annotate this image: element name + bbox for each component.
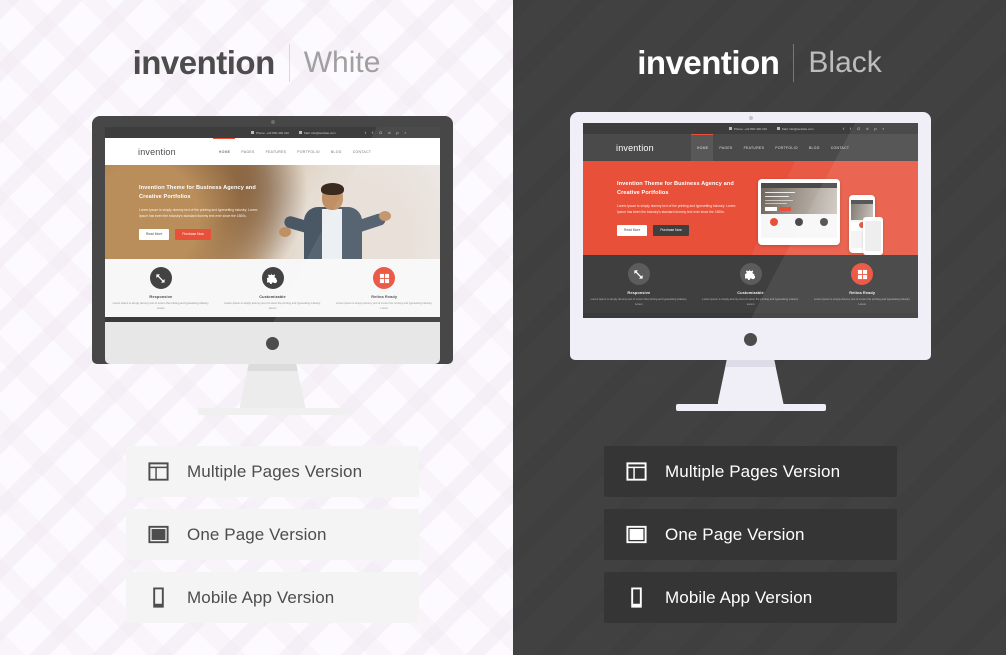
tablet-feature-icon bbox=[770, 218, 778, 226]
layout-sidebar-icon bbox=[146, 460, 170, 484]
feature-title: Customizable bbox=[223, 294, 323, 299]
nav-item-features: FEATURES bbox=[744, 146, 765, 150]
google-plus-icon: G bbox=[379, 131, 382, 135]
twitter-icon: t bbox=[843, 127, 844, 131]
device-mockup-cluster bbox=[758, 173, 883, 255]
variant-name: White bbox=[304, 46, 381, 80]
mockup-logo: invention bbox=[616, 143, 654, 153]
monitor-chin bbox=[105, 322, 440, 364]
feature-title: Responsive bbox=[589, 290, 689, 295]
mockup-hero-copy: Invention Theme for Business Agency and … bbox=[139, 184, 264, 240]
layout-sidebar-icon bbox=[624, 460, 648, 484]
version-label: Multiple Pages Version bbox=[665, 462, 840, 482]
tablet-feature-icon bbox=[795, 218, 803, 226]
topbar-email: Mail: info@website.com bbox=[299, 131, 336, 135]
gears-icon bbox=[262, 267, 284, 289]
facebook-icon: f bbox=[372, 131, 373, 135]
monitor-stand-neck-top bbox=[718, 360, 784, 367]
photo-shirt bbox=[322, 209, 342, 259]
nav-item-blog: BLOG bbox=[331, 150, 342, 154]
read-more-button: Read More bbox=[139, 229, 169, 240]
purchase-now-button: Purchase Now bbox=[653, 225, 688, 236]
mobile-phone-icon bbox=[624, 586, 648, 610]
white-theme-title: invention White bbox=[0, 44, 513, 82]
website-mockup-white: Phone: +22 800 400 210 Mail: info@websit… bbox=[105, 127, 440, 322]
mockup-footer bbox=[105, 317, 440, 322]
monitor-logo-icon bbox=[744, 333, 757, 346]
topbar-phone: Phone: +22 800 400 210 bbox=[251, 131, 289, 135]
photo-hand-left bbox=[279, 227, 291, 237]
tablet-mockup bbox=[758, 179, 840, 245]
version-label: Mobile App Version bbox=[665, 588, 812, 608]
nav-item-contact: CONTACT bbox=[353, 150, 372, 154]
monitor-stand-base bbox=[676, 404, 826, 411]
mockup-hero-photo: Invention Theme for Business Agency and … bbox=[105, 165, 440, 259]
nav-item-home: HOME bbox=[697, 146, 709, 150]
feature-text: Lorem Ipsum is simply dummy text of Lore… bbox=[223, 302, 323, 312]
black-theme-title: invention Black bbox=[513, 44, 1006, 82]
tablet-hero bbox=[761, 188, 837, 214]
window-filled-icon bbox=[624, 523, 648, 547]
expand-arrows-icon bbox=[150, 267, 172, 289]
mockup-features: Responsive Lorem Ipsum is simply dummy t… bbox=[583, 255, 918, 313]
topbar-phone: Phone: +22 800 400 210 bbox=[729, 127, 767, 131]
phone-icon bbox=[251, 131, 254, 134]
tablet-button-red bbox=[779, 207, 791, 211]
mockup-navbar: invention HOME PAGES FEATURES PORTFOLIO … bbox=[583, 134, 918, 161]
purchase-now-button: Purchase Now bbox=[175, 229, 210, 240]
version-label: Multiple Pages Version bbox=[187, 462, 362, 482]
hero-heading: Invention Theme for Business Agency and … bbox=[139, 184, 264, 201]
topbar-email: Mail: info@website.com bbox=[777, 127, 814, 131]
white-theme-panel: invention White Phone: +22 800 400 210 bbox=[0, 0, 513, 655]
hero-buttons: Read More Purchase Now bbox=[139, 229, 264, 240]
nav-item-pages: PAGES bbox=[241, 150, 254, 154]
title-divider bbox=[793, 44, 794, 82]
photo-hair bbox=[321, 183, 344, 195]
mobile-phone-icon bbox=[146, 586, 170, 610]
webcam-icon bbox=[749, 116, 753, 120]
tablet-features bbox=[761, 214, 837, 238]
black-theme-monitor-preview: Phone: +22 800 400 210 Mail: info@websit… bbox=[570, 112, 931, 411]
hero-heading: Invention Theme for Business Agency and … bbox=[617, 180, 742, 197]
text-line bbox=[765, 200, 793, 201]
monitor-stand-neck bbox=[718, 360, 784, 404]
monitor-screen: Phone: +22 800 400 210 Mail: info@websit… bbox=[105, 127, 440, 322]
website-mockup-black: Phone: +22 800 400 210 Mail: info@websit… bbox=[583, 123, 918, 318]
facebook-icon: f bbox=[850, 127, 851, 131]
topbar-social-icons: t f G d p r bbox=[843, 127, 884, 131]
webcam-icon bbox=[271, 120, 275, 124]
feature-text: Lorem Ipsum is simply dummy text of Lore… bbox=[334, 302, 434, 312]
twitter-icon: t bbox=[365, 131, 366, 135]
monitor-stand-neck-top bbox=[240, 364, 306, 371]
envelope-icon bbox=[777, 127, 780, 130]
monitor-chin bbox=[583, 318, 918, 360]
feature-title: Retina Ready bbox=[812, 290, 912, 295]
nav-item-portfolio: PORTFOLIO bbox=[775, 146, 798, 150]
read-more-button: Read More bbox=[617, 225, 647, 236]
version-label: Mobile App Version bbox=[187, 588, 334, 608]
feature-text: Lorem Ipsum is simply dummy text of Lore… bbox=[111, 302, 211, 312]
tablet-feature-icon bbox=[820, 218, 828, 226]
pinterest-icon: p bbox=[874, 127, 876, 131]
feature-title: Customizable bbox=[701, 290, 801, 295]
feature-retina-ready: Retina Ready Lorem Ipsum is simply dummy… bbox=[806, 263, 918, 313]
phone-mockup-small bbox=[863, 217, 883, 255]
feature-text: Lorem Ipsum is simply dummy text of Lore… bbox=[589, 298, 689, 308]
nav-item-features: FEATURES bbox=[266, 150, 287, 154]
google-plus-icon: G bbox=[857, 127, 860, 131]
topbar-social-icons: t f G d p r bbox=[365, 131, 406, 135]
one-page-version-button[interactable]: One Page Version bbox=[604, 509, 897, 560]
rss-icon: r bbox=[405, 131, 406, 135]
multiple-pages-version-button[interactable]: Multiple Pages Version bbox=[604, 446, 897, 497]
rss-icon: r bbox=[883, 127, 884, 131]
feature-title: Retina Ready bbox=[334, 294, 434, 299]
monitor-screen: Phone: +22 800 400 210 Mail: info@websit… bbox=[583, 123, 918, 318]
window-filled-icon bbox=[146, 523, 170, 547]
feature-retina-ready: Retina Ready Lorem Ipsum is simply dummy… bbox=[328, 267, 440, 317]
mockup-footer bbox=[583, 313, 918, 318]
nav-item-contact: CONTACT bbox=[831, 146, 850, 150]
mockup-nav-links: HOME PAGES FEATURES PORTFOLIO BLOG CONTA… bbox=[697, 146, 850, 150]
feature-text: Lorem Ipsum is simply dummy text of Lore… bbox=[812, 298, 912, 308]
monitor-bezel: Phone: +22 800 400 210 Mail: info@websit… bbox=[570, 112, 931, 360]
mockup-hero-red: Invention Theme for Business Agency and … bbox=[583, 161, 918, 255]
monitor-logo-icon bbox=[266, 337, 279, 350]
title-divider bbox=[289, 44, 290, 82]
mockup-hero-copy: Invention Theme for Business Agency and … bbox=[617, 180, 742, 236]
photo-hand-right bbox=[379, 211, 391, 221]
variant-name: Black bbox=[808, 46, 881, 80]
phone-icon bbox=[729, 127, 732, 130]
brand-name: invention bbox=[637, 44, 779, 82]
expand-arrows-icon bbox=[628, 263, 650, 285]
feature-responsive: Responsive Lorem Ipsum is simply dummy t… bbox=[105, 267, 217, 317]
version-label: One Page Version bbox=[187, 525, 327, 545]
phone-small-screen bbox=[865, 221, 881, 251]
mobile-app-version-button[interactable]: Mobile App Version bbox=[126, 572, 419, 623]
feature-customizable: Customizable Lorem Ipsum is simply dummy… bbox=[217, 267, 329, 317]
mockup-topbar: Phone: +22 800 400 210 Mail: info@websit… bbox=[105, 127, 440, 138]
brand-name: invention bbox=[133, 44, 275, 82]
hero-paragraph: Lorem Ipsum is simply dummy text of the … bbox=[139, 208, 264, 220]
feature-customizable: Customizable Lorem Ipsum is simply dummy… bbox=[695, 263, 807, 313]
theme-chooser-screen: invention White Phone: +22 800 400 210 bbox=[0, 0, 1006, 655]
businessman-photo bbox=[286, 183, 382, 259]
feature-responsive: Responsive Lorem Ipsum is simply dummy t… bbox=[583, 263, 695, 313]
mockup-navbar: invention HOME PAGES FEATURES PORTFOLIO … bbox=[105, 138, 440, 165]
dribbble-icon: d bbox=[866, 127, 868, 131]
envelope-icon bbox=[299, 131, 302, 134]
tablet-hero-buttons bbox=[765, 207, 791, 211]
mockup-features: Responsive Lorem Ipsum is simply dummy t… bbox=[105, 259, 440, 317]
white-theme-version-list: Multiple Pages Version One Page Version … bbox=[126, 446, 419, 635]
monitor-stand-neck bbox=[240, 364, 306, 408]
text-line bbox=[765, 192, 795, 193]
mockup-logo: invention bbox=[138, 147, 176, 157]
nav-item-pages: PAGES bbox=[719, 146, 732, 150]
gears-icon bbox=[740, 263, 762, 285]
tablet-button-light bbox=[765, 207, 777, 211]
nav-item-home: HOME bbox=[219, 150, 231, 154]
text-line bbox=[765, 196, 789, 197]
feature-text: Lorem Ipsum is simply dummy text of Lore… bbox=[701, 298, 801, 308]
grid-squares-icon bbox=[851, 263, 873, 285]
nav-item-portfolio: PORTFOLIO bbox=[297, 150, 320, 154]
grid-squares-icon bbox=[373, 267, 395, 289]
tablet-screen bbox=[761, 183, 837, 241]
text-line bbox=[765, 203, 787, 204]
hero-buttons: Read More Purchase Now bbox=[617, 225, 742, 236]
white-theme-monitor-preview: Phone: +22 800 400 210 Mail: info@websit… bbox=[92, 116, 453, 415]
nav-item-blog: BLOG bbox=[809, 146, 820, 150]
one-page-version-button[interactable]: One Page Version bbox=[126, 509, 419, 560]
mockup-topbar: Phone: +22 800 400 210 Mail: info@websit… bbox=[583, 123, 918, 134]
feature-title: Responsive bbox=[111, 294, 211, 299]
monitor-stand-base bbox=[198, 408, 348, 415]
multiple-pages-version-button[interactable]: Multiple Pages Version bbox=[126, 446, 419, 497]
mockup-nav-links: HOME PAGES FEATURES PORTFOLIO BLOG CONTA… bbox=[219, 150, 372, 154]
mobile-app-version-button[interactable]: Mobile App Version bbox=[604, 572, 897, 623]
dribbble-icon: d bbox=[388, 131, 390, 135]
hero-paragraph: Lorem Ipsum is simply dummy text of the … bbox=[617, 204, 742, 216]
black-theme-panel: invention Black Phone: +22 800 400 210 bbox=[513, 0, 1006, 655]
black-theme-version-list: Multiple Pages Version One Page Version … bbox=[604, 446, 897, 635]
version-label: One Page Version bbox=[665, 525, 805, 545]
pinterest-icon: p bbox=[396, 131, 398, 135]
monitor-bezel: Phone: +22 800 400 210 Mail: info@websit… bbox=[92, 116, 453, 364]
